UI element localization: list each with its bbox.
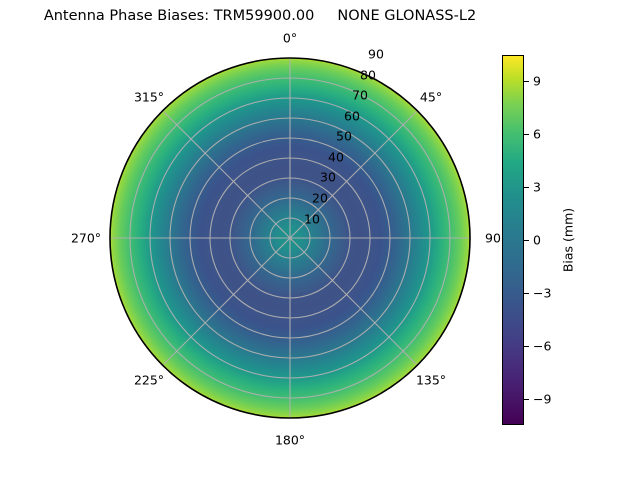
colorbar-gradient [502, 55, 524, 425]
colorbar-tick-neg6 [524, 346, 529, 347]
polar-axes: 0° 45° 90 135° 180° 225° 270° 315° 10 20… [109, 57, 471, 419]
radial-label-50: 50 [336, 129, 352, 144]
azimuth-label-315: 315° [134, 90, 164, 105]
azimuth-label-180: 180° [275, 433, 305, 448]
colorbar-tick-neg3 [524, 293, 529, 294]
polar-plot-svg [109, 57, 471, 419]
colorbar-ticklabel-neg9: −9 [533, 391, 551, 406]
figure-canvas: Antenna Phase Biases: TRM59900.00 NONE G… [0, 0, 640, 480]
colorbar-ticklabel-neg6: −6 [533, 338, 551, 353]
colorbar-ticklabel-9: 9 [533, 74, 541, 89]
radial-label-90: 90 [368, 47, 384, 62]
colorbar-tick-neg9 [524, 399, 529, 400]
colorbar-tick-3 [524, 187, 529, 188]
colorbar-tick-9 [524, 81, 529, 82]
azimuth-label-135: 135° [416, 373, 446, 388]
polar-grid-spokes [110, 58, 470, 418]
colorbar-axis-label: Bias (mm) [561, 208, 576, 272]
radial-label-60: 60 [344, 109, 360, 124]
radial-label-20: 20 [312, 191, 328, 206]
radial-label-40: 40 [328, 150, 344, 165]
azimuth-label-90: 90 [485, 231, 501, 246]
radial-label-30: 30 [320, 170, 336, 185]
radial-label-70: 70 [352, 88, 368, 103]
radial-label-10: 10 [304, 212, 320, 227]
colorbar-ticklabel-6: 6 [533, 127, 541, 142]
azimuth-label-225: 225° [134, 373, 164, 388]
colorbar: 9 6 3 0 −3 −6 −9 [502, 55, 524, 425]
colorbar-tick-6 [524, 134, 529, 135]
colorbar-tick-0 [524, 240, 529, 241]
colorbar-ticklabel-3: 3 [533, 180, 541, 195]
azimuth-label-0: 0° [283, 31, 297, 46]
azimuth-label-270: 270° [71, 231, 101, 246]
colorbar-ticklabel-0: 0 [533, 233, 541, 248]
colorbar-ticklabel-neg3: −3 [533, 285, 551, 300]
radial-label-80: 80 [360, 68, 376, 83]
figure-title: Antenna Phase Biases: TRM59900.00 NONE G… [0, 8, 520, 24]
azimuth-label-45: 45° [420, 90, 442, 105]
